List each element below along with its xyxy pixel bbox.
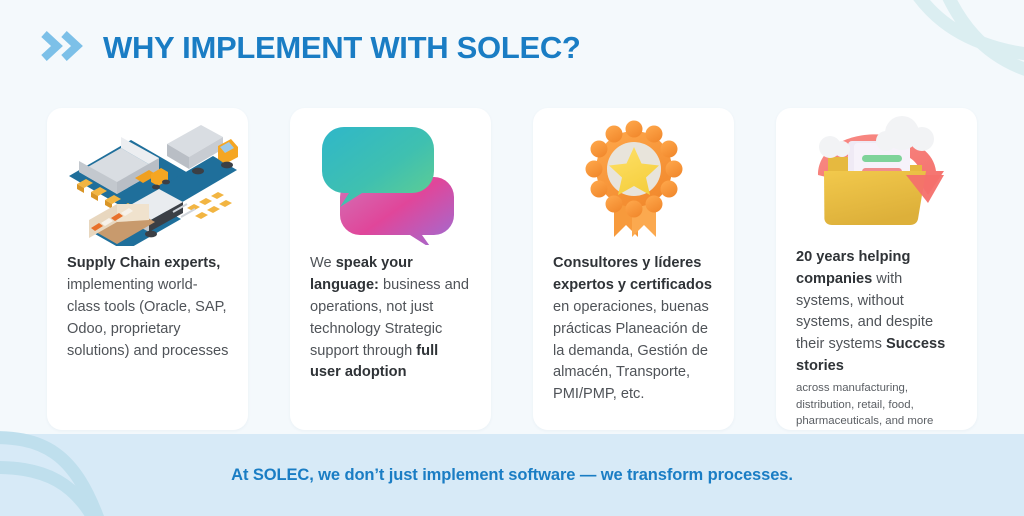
benefit-card-text: Supply Chain experts, implementing world…	[47, 253, 248, 362]
benefit-card-text: 20 years helping companies with systems,…	[776, 247, 977, 430]
speech-bubbles-icon	[290, 108, 491, 253]
footer-tagline: At SOLEC, we don’t just implement softwa…	[231, 466, 793, 485]
card3-rest: en operaciones, buenas prácticas Planeac…	[553, 299, 709, 403]
benefit-card-text: We speak your language: business and ope…	[290, 253, 491, 384]
benefit-card-supply-chain[interactable]: Supply Chain experts, implementing world…	[47, 108, 248, 430]
card3-bold-lead: Consultores y líderes expertos y certifi…	[553, 255, 712, 293]
card2-lead: We	[310, 255, 336, 271]
benefit-card-consultants[interactable]: Consultores y líderes expertos y certifi…	[533, 108, 734, 430]
double-chevron-right-icon	[40, 31, 87, 66]
benefit-card-text: Consultores y líderes expertos y certifi…	[533, 253, 734, 406]
slide-canvas: WHY IMPLEMENT WITH SOLEC?	[0, 0, 1024, 516]
footer-strip: At SOLEC, we don’t just implement softwa…	[0, 434, 1024, 516]
benefit-card-language[interactable]: We speak your language: business and ope…	[290, 108, 491, 430]
benefit-card-list: Supply Chain experts, implementing world…	[47, 108, 977, 430]
card1-bold-lead: Supply Chain experts,	[67, 255, 220, 271]
cloud-folder-icon	[776, 108, 977, 247]
card4-small-text: across manufacturing, distribution, reta…	[796, 380, 959, 430]
page-title: WHY IMPLEMENT WITH SOLEC?	[103, 30, 581, 66]
benefit-card-experience[interactable]: 20 years helping companies with systems,…	[776, 108, 977, 430]
award-rosette-icon	[533, 108, 734, 253]
card1-rest: implementing world-class tools (Oracle, …	[67, 277, 228, 359]
isometric-supply-chain-icon	[47, 108, 248, 253]
slide-header: WHY IMPLEMENT WITH SOLEC?	[40, 30, 581, 66]
